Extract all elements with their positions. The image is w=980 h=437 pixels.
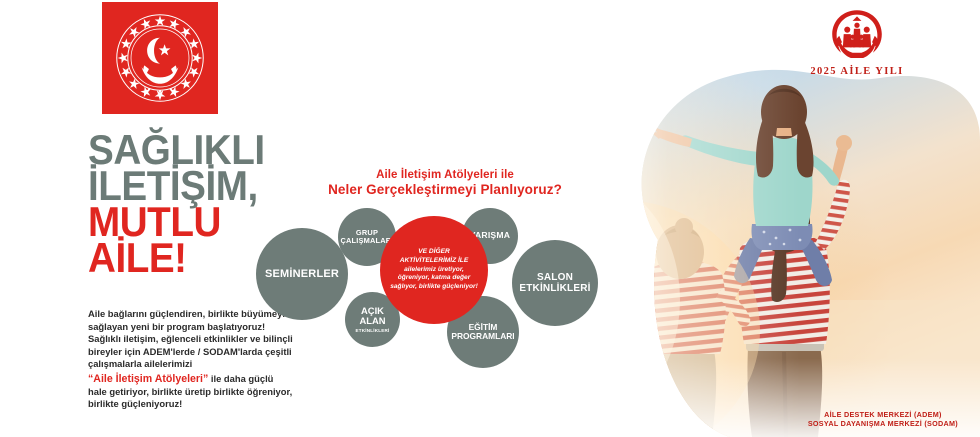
year-logo-caption: 2025 AİLE YILI [810, 66, 903, 77]
footer-line-2: SOSYAL DAYANIŞMA MERKEZİ (SODAM) [808, 419, 958, 429]
bubble-grup-calismalari-label: GRUP ÇALIŞMALARI [340, 229, 393, 245]
bubble-seminerler[interactable]: SEMİNERLER [256, 228, 348, 320]
bubble-salon-line-2: ETKİNLİKLERİ [519, 283, 590, 294]
bubble-salon-label: SALON ETKİNLİKLERİ [519, 272, 590, 294]
center-question-heading: Aile İletişim Atölyeleri ile Neler Gerçe… [300, 168, 590, 199]
red-bubble-cap-1: VE DİĞER [418, 248, 450, 255]
footer-centers: AİLE DESTEK MERKEZİ (ADEM) SOSYAL DAYANI… [808, 410, 958, 429]
poster-canvas: 2025 AİLE YILI SAĞLIKLI İLETİŞİM, MUTLU … [0, 0, 980, 437]
bubble-acik-alan-label: AÇIK ALAN ETKİNLİKLERİ [355, 306, 389, 333]
red-bubble-cap-2: AKTİVİTELERİMİZ İLE [400, 257, 469, 264]
activity-bubble-cluster: SEMİNERLER GRUP ÇALIŞMALARI AÇIK ALAN ET… [240, 200, 620, 370]
family-year-icon [826, 6, 888, 64]
bubble-egitim-line-2: PROGRAMLARI [451, 331, 514, 341]
ministry-logo [102, 2, 218, 114]
bubble-acik-sub: ETKİNLİKLERİ [355, 328, 389, 333]
year-of-family-logo: 2025 AİLE YILI [792, 6, 922, 90]
red-bubble-body: ailelerimiz üretiyor, öğreniyor, katma d… [390, 266, 478, 290]
center-heading-line-1: Aile İletişim Atölyeleri ile [300, 168, 590, 182]
body-highlight: “Aile İletişim Atölyeleri” [88, 373, 208, 385]
bubble-salon-etkinlikleri[interactable]: SALON ETKİNLİKLERİ [512, 240, 598, 326]
bubble-egitim-label: EĞİTİM PROGRAMLARI [451, 323, 514, 341]
bubble-seminerler-label: SEMİNERLER [265, 268, 339, 280]
bubble-acik-line-2: ALAN [359, 315, 385, 326]
bubble-acik-line-1: AÇIK [361, 305, 384, 316]
bubble-other-activities[interactable]: VE DİĞER AKTİVİTELERİMİZ İLE ailelerimiz… [380, 216, 488, 324]
center-heading-line-2: Neler Gerçekleştirmeyi Planlıyoruz? [300, 182, 590, 199]
body-paragraph-2: “Aile İletişim Atölyeleri” ile daha güçl… [88, 372, 293, 411]
ministry-seal-icon [114, 12, 206, 104]
bubble-salon-line-1: SALON [537, 272, 573, 283]
footer-line-1: AİLE DESTEK MERKEZİ (ADEM) [808, 410, 958, 420]
bubble-other-activities-text: VE DİĞER AKTİVİTELERİMİZ İLE ailelerimiz… [384, 248, 484, 292]
